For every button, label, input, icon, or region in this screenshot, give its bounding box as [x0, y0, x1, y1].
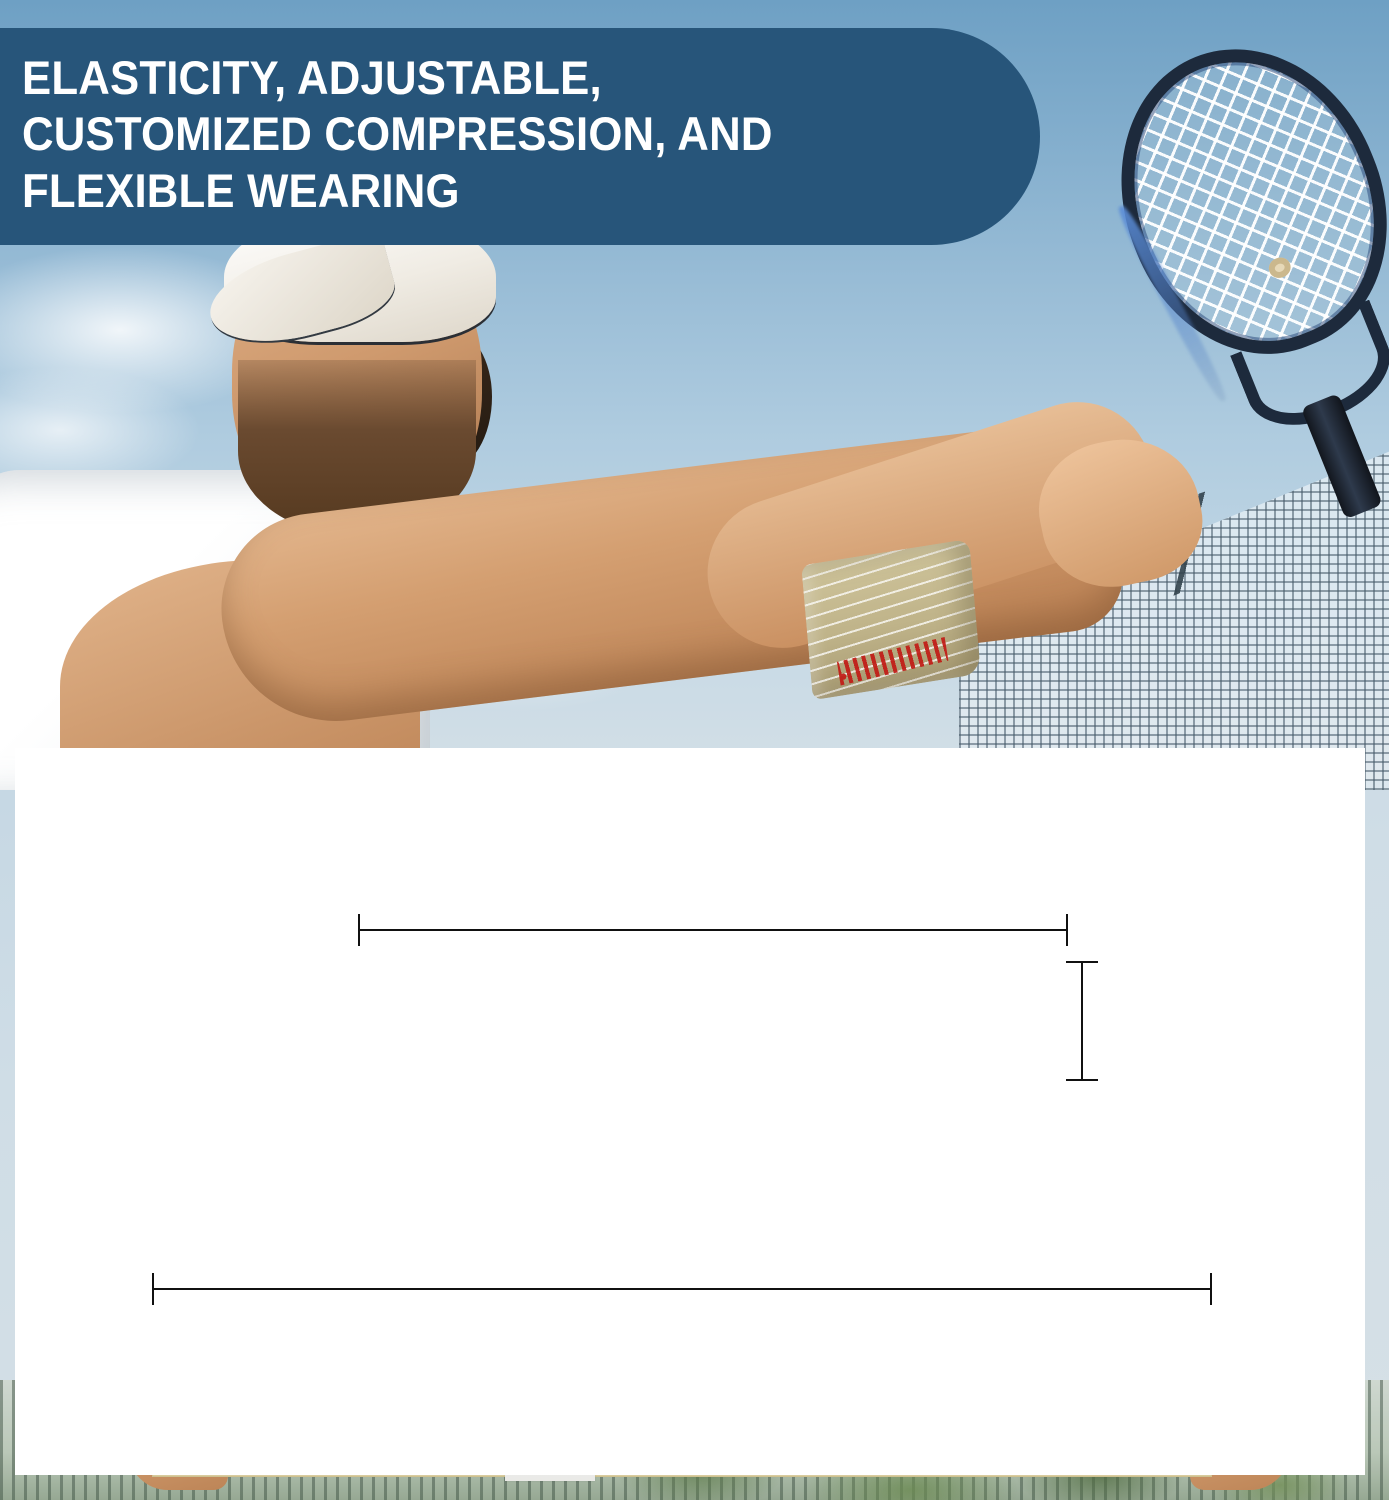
worn-wrist-brace: [801, 539, 981, 700]
brand-logo-icon: [837, 637, 948, 685]
dimension-line-width-flat: [358, 929, 1068, 931]
page-title: ELASTICITY, ADJUSTABLE, CUSTOMIZED COMPR…: [22, 50, 932, 219]
dimension-line-width-stretched: [152, 1288, 1212, 1290]
product-infographic: ELASTICITY, ADJUSTABLE, CUSTOMIZED COMPR…: [0, 0, 1389, 1500]
spec-panel: [15, 748, 1365, 1475]
dimension-line-height-flat: [1081, 961, 1083, 1081]
header-banner: ELASTICITY, ADJUSTABLE, CUSTOMIZED COMPR…: [0, 28, 1040, 245]
